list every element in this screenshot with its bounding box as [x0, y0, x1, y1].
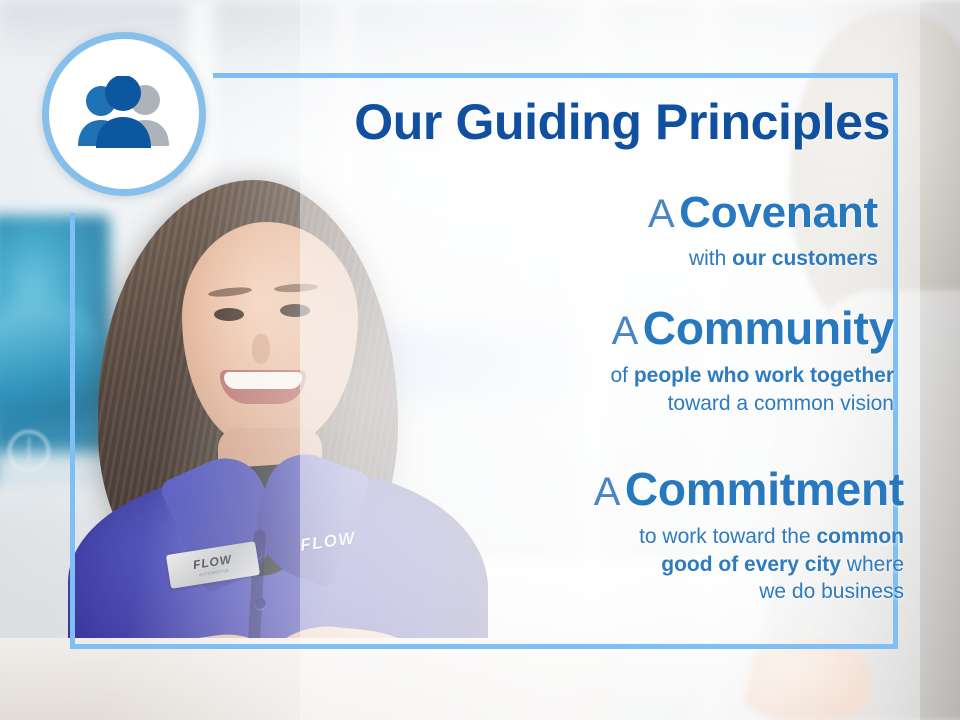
- principle-subtext-line: toward a common vision: [610, 390, 894, 418]
- principle-heading: A Covenant: [648, 190, 878, 236]
- principle-article: A: [594, 470, 621, 514]
- subtext-emphasis: people who work together: [634, 364, 894, 387]
- principle-subtext-line: to work toward the common: [594, 523, 904, 551]
- principle-subtext-line: of people who work together: [610, 362, 894, 390]
- subtext-emphasis: common: [816, 525, 904, 548]
- principle-block-covenant: A Covenant with our customers: [648, 190, 878, 272]
- principle-article: A: [612, 309, 639, 353]
- principle-subtext: to work toward the commongood of every c…: [594, 523, 904, 606]
- page-title: Our Guiding Principles: [0, 97, 890, 147]
- subtext-run: toward a common vision: [668, 392, 894, 415]
- principle-subtext: with our customers: [648, 245, 878, 273]
- principle-subtext-line: we do business: [594, 578, 904, 606]
- subtext-run: to work toward the: [639, 525, 816, 548]
- principle-word: Commitment: [625, 463, 904, 515]
- subtext-emphasis: good of every city: [661, 553, 841, 576]
- subtext-emphasis: our customers: [732, 247, 878, 270]
- subtext-run: of: [610, 364, 633, 387]
- guiding-principles-banner: FLOW AUTOMOTIVE FLOW: [0, 0, 960, 720]
- principle-word: Covenant: [679, 188, 878, 237]
- subtext-run: where: [841, 553, 904, 576]
- principle-block-community: A Community of people who work togethert…: [610, 305, 894, 417]
- principle-heading: A Commitment: [594, 466, 904, 514]
- principle-block-commitment: A Commitment to work toward the commongo…: [594, 466, 904, 606]
- principle-heading: A Community: [610, 305, 894, 353]
- subtext-run: we do business: [759, 580, 904, 603]
- principle-subtext-line: good of every city where: [594, 551, 904, 579]
- subtext-run: with: [689, 247, 732, 270]
- principle-subtext: of people who work togethertoward a comm…: [610, 362, 894, 417]
- principle-word: Community: [643, 302, 894, 354]
- principle-article: A: [648, 192, 675, 236]
- principle-subtext-line: with our customers: [648, 245, 878, 273]
